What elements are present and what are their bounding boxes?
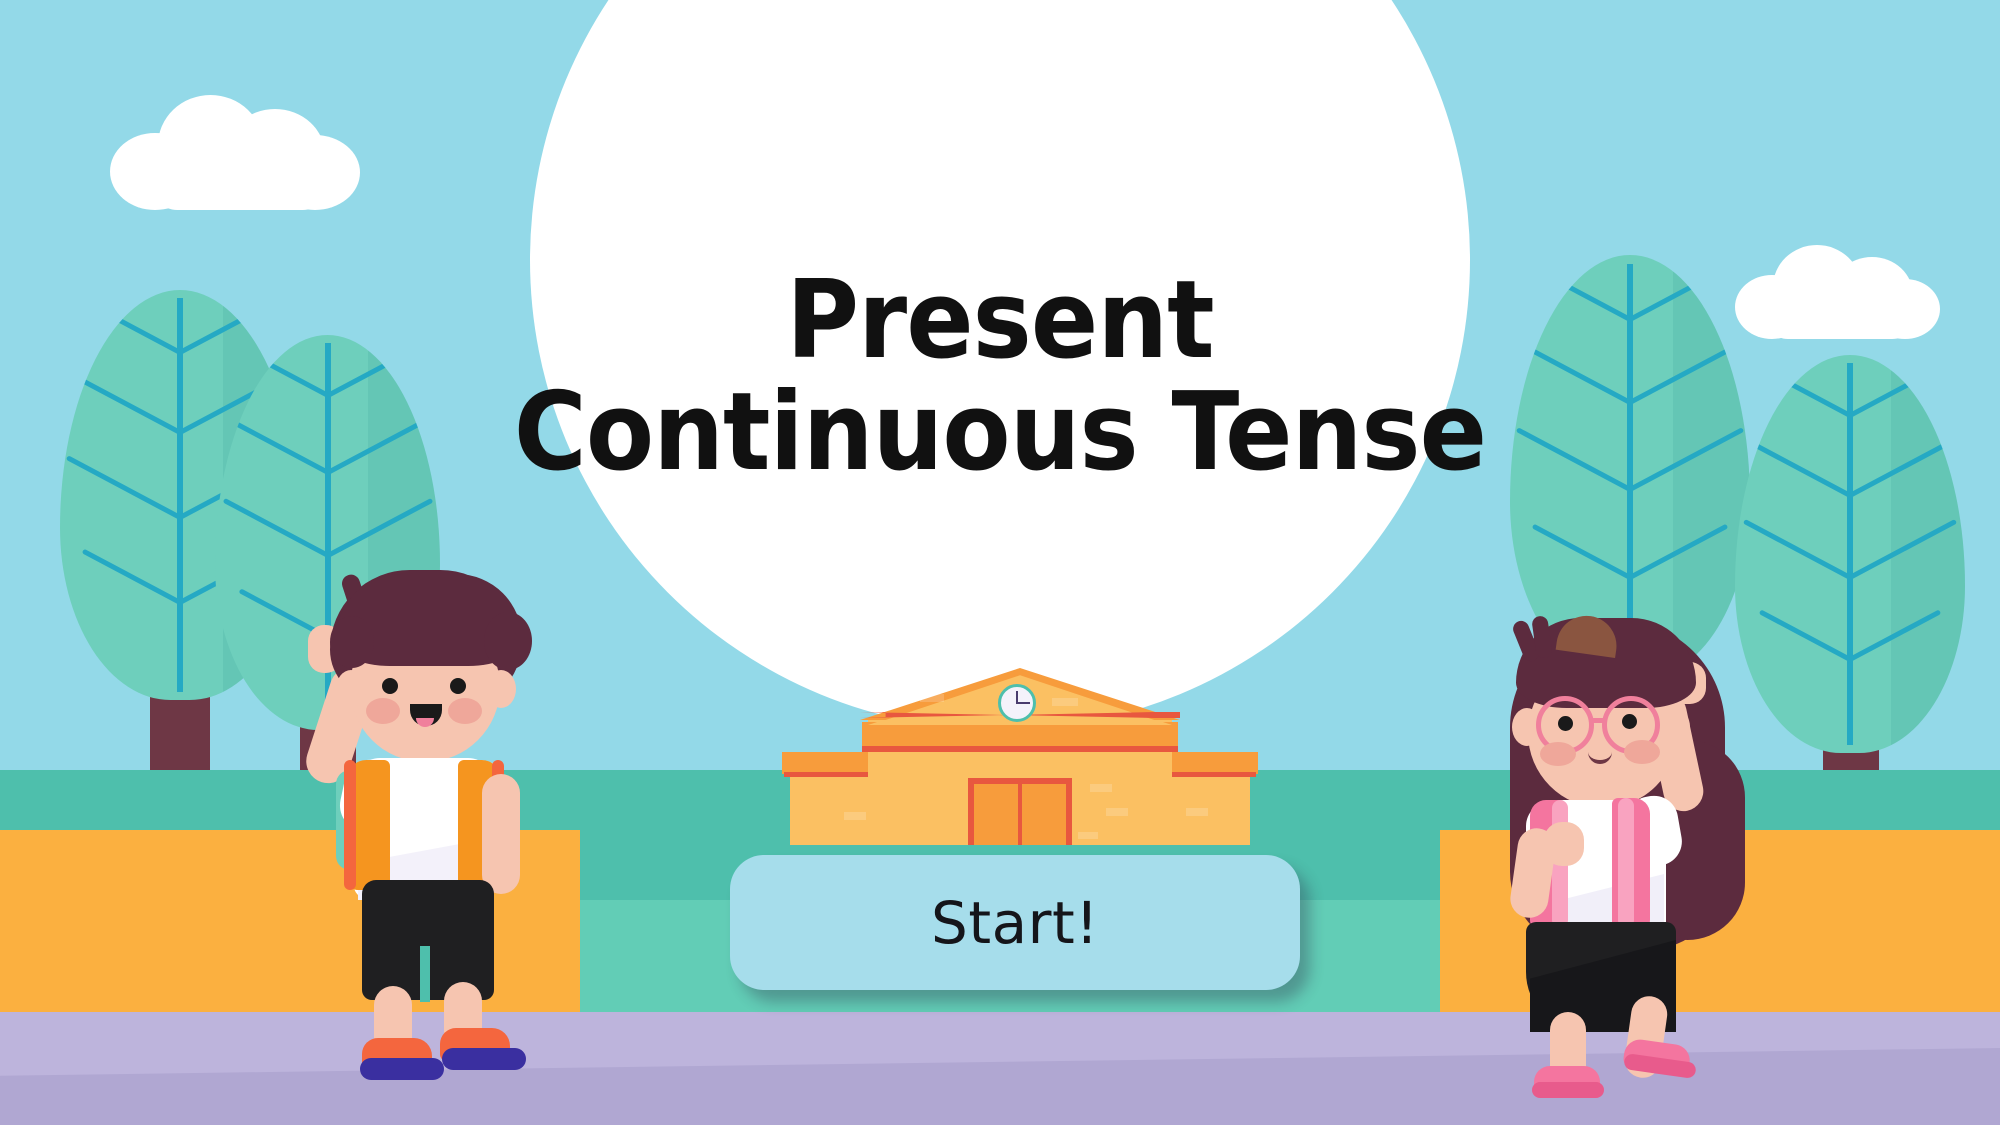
page-title: Present Continuous Tense	[80, 265, 1920, 490]
school-building-icon	[790, 660, 1250, 845]
girl-student-character	[1500, 600, 1800, 1100]
title-line-2: Continuous Tense	[80, 377, 1920, 489]
start-button[interactable]: Start!	[730, 855, 1300, 990]
cloud-icon	[110, 95, 360, 210]
start-button-label: Start!	[931, 889, 1099, 957]
title-line-1: Present	[80, 265, 1920, 377]
boy-student-character	[300, 570, 600, 1100]
title-slide: Present Continuous Tense Start!	[0, 0, 2000, 1125]
